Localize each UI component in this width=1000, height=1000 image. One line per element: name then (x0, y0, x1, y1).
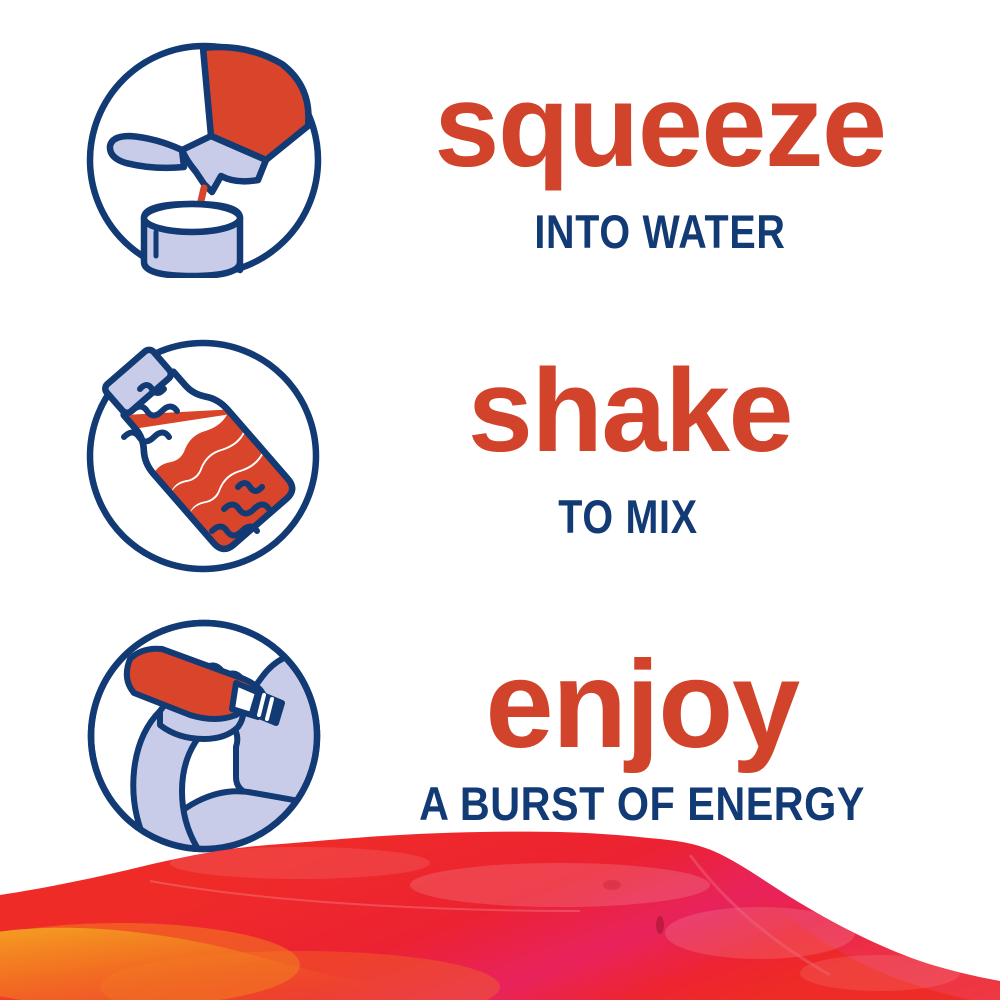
instructions-poster: squeeze INTO WATER (0, 0, 1000, 1000)
squeeze-packet-into-bottle-icon (86, 42, 322, 278)
step-shake-subline: TO MIX (351, 493, 905, 540)
step-squeeze-text: squeeze INTO WATER (330, 10, 990, 295)
step-squeeze-headline: squeeze (333, 72, 986, 181)
step-enjoy-headline: enjoy (315, 648, 968, 762)
step-enjoy-text: enjoy A BURST OF ENERGY (330, 580, 990, 865)
step-enjoy: enjoy A BURST OF ENERGY (0, 580, 1000, 865)
step-squeeze: squeeze INTO WATER (0, 10, 1000, 295)
step-enjoy-subline: A BURST OF ENERGY (352, 780, 933, 827)
step-shake-headline: shake (303, 357, 956, 466)
step-shake: shake TO MIX (0, 295, 1000, 580)
person-drinking-bottle-icon (86, 615, 322, 857)
shaking-bottle-icon (86, 333, 320, 579)
step-shake-text: shake TO MIX (330, 295, 990, 580)
step-squeeze-subline: INTO WATER (383, 208, 937, 255)
